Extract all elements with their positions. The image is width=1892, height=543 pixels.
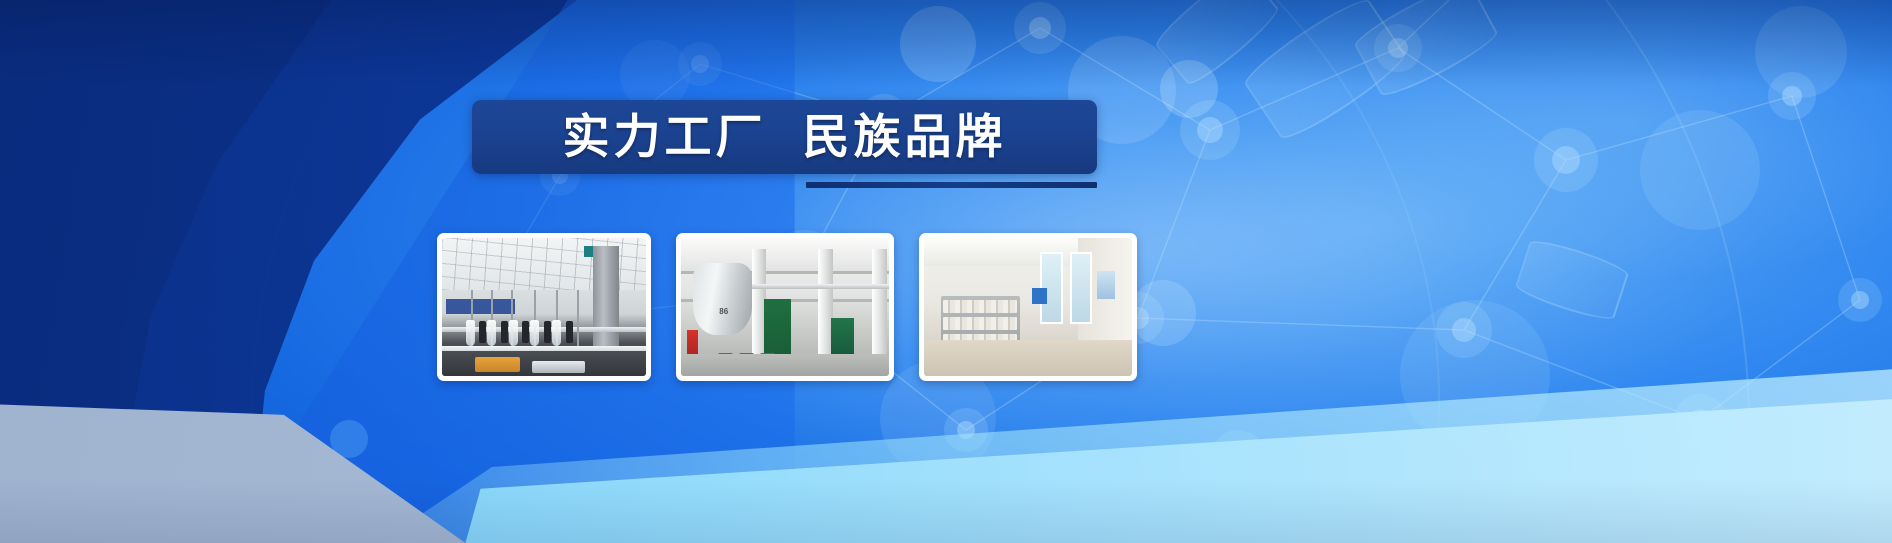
headline-segment-2: 民族品牌 (803, 110, 1007, 165)
lab-glassware (530, 320, 539, 346)
lab-fixture (522, 321, 529, 343)
lab-fixture (479, 321, 486, 343)
warehouse-floor (924, 340, 1132, 376)
headline-plate: 实力工厂民族品牌 (472, 100, 1097, 174)
lab-glassware (552, 320, 561, 346)
lab-glassware (487, 320, 496, 346)
lab-fixture (501, 321, 508, 343)
warehouse-blue-crate (1032, 288, 1047, 305)
banner-root: 实力工厂民族品牌 (0, 0, 1892, 543)
warehouse-window (1070, 252, 1093, 324)
warehouse-shelf-row (943, 317, 1017, 330)
photo-production-hall: 86 (681, 238, 889, 376)
lab-cart (475, 357, 520, 372)
warehouse-notice-board (1097, 271, 1116, 299)
photo-card-warehouse[interactable] (919, 233, 1137, 381)
lab-fixture (566, 321, 573, 343)
hall-floor (681, 354, 889, 376)
warehouse-shelf-row (943, 300, 1017, 313)
hall-tank-label: 86 (719, 307, 728, 316)
lab-glassware (509, 320, 518, 346)
photo-laboratory (442, 238, 646, 376)
lab-blue-panel (446, 299, 515, 314)
hall-walkway-rail (752, 284, 889, 290)
photo-warehouse (924, 238, 1132, 376)
lab-trolley (532, 361, 585, 373)
lab-fixture (544, 321, 551, 343)
headline-segment-1: 实力工厂 (563, 110, 767, 165)
photo-card-laboratory[interactable] (437, 233, 651, 381)
photo-card-production-hall[interactable]: 86 (676, 233, 894, 381)
headline-text: 实力工厂民族品牌 (563, 114, 1007, 161)
photo-gallery: 86 (437, 233, 1137, 381)
hall-reactor-tank: 86 (693, 263, 751, 335)
headline-block: 实力工厂民族品牌 (472, 100, 1097, 174)
lab-stand (577, 290, 579, 345)
headline-underline (806, 182, 1097, 188)
lab-glassware (466, 320, 475, 346)
